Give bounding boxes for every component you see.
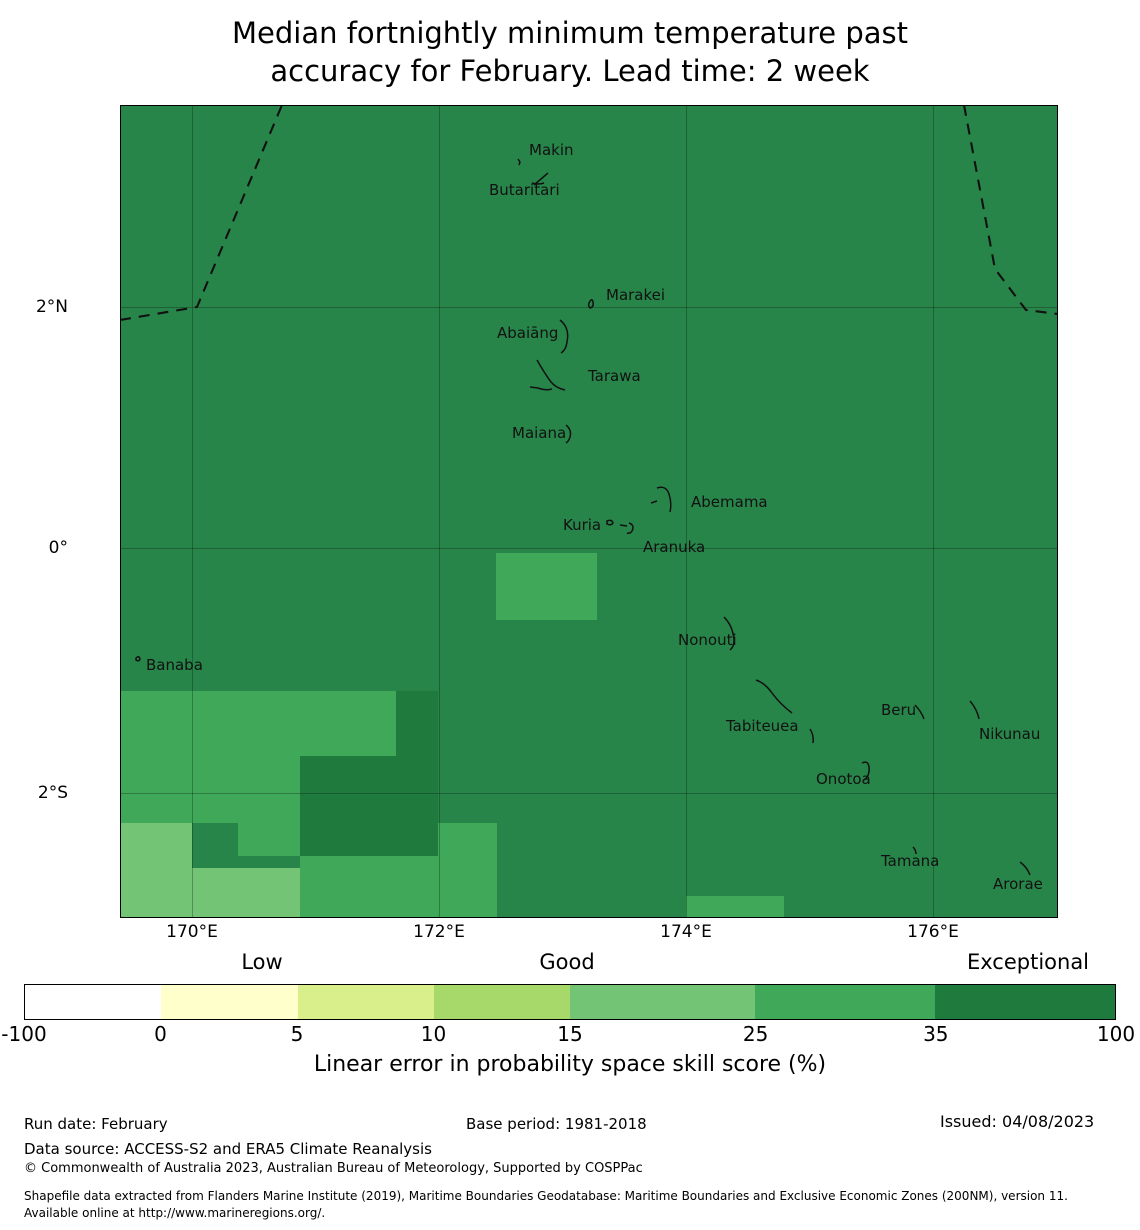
island-label-tabiteuea: Tabiteuea xyxy=(726,717,799,735)
map-plot-area[interactable]: MakinButaritariMarakeiAbaiāngTarawaMaia… xyxy=(120,105,1058,918)
colorbar-segment[interactable] xyxy=(570,985,755,1019)
map-vector-layer xyxy=(120,105,1058,918)
eez-boundary-group xyxy=(120,105,1058,320)
colorbar-tick: 5 xyxy=(291,1022,304,1046)
x-axis-tick: 170°E xyxy=(166,922,218,942)
island-label-tarawa: Tarawa xyxy=(588,367,641,385)
colorbar[interactable] xyxy=(24,984,1116,1020)
colorbar-tick: 35 xyxy=(923,1022,948,1046)
island-label-aranuka: Aranuka xyxy=(643,538,705,556)
island-label-banaba: Banaba xyxy=(146,656,203,674)
island-label-nikunau: Nikunau xyxy=(979,725,1040,743)
y-axis-tick: 2°N xyxy=(36,297,68,317)
footer-run-date: Run date: February xyxy=(24,1115,168,1133)
colorbar-caption: Good xyxy=(539,950,594,974)
colorbar-segment[interactable] xyxy=(298,985,434,1019)
island-outline-beru xyxy=(915,705,924,719)
colorbar-axis-label: Linear error in probability space skill … xyxy=(0,1052,1140,1077)
colorbar-caption: Exceptional xyxy=(967,950,1089,974)
colorbar-caption: Low xyxy=(241,950,282,974)
island-label-marakei: Marakei xyxy=(606,286,665,304)
island-outline-marakei xyxy=(589,300,594,308)
colorbar-tick: 0 xyxy=(154,1022,167,1046)
eastern-eez xyxy=(964,105,1058,314)
island-label-maiana: Maiana xyxy=(512,424,566,442)
title-line-2: accuracy for February. Lead time: 2 week xyxy=(0,52,1140,90)
island-label-kuria: Kuria xyxy=(563,516,601,534)
colorbar-tick: 10 xyxy=(421,1022,446,1046)
colorbar-tick: 25 xyxy=(743,1022,768,1046)
title-line-1: Median fortnightly minimum temperature p… xyxy=(0,14,1140,52)
island-outline-banaba xyxy=(136,657,140,661)
footer-base-period: Base period: 1981-2018 xyxy=(466,1115,647,1133)
island-label-nonouti: Nonouti xyxy=(678,631,737,649)
island-outline-arorae xyxy=(1020,862,1030,875)
island-label-butaritari: Butaritari xyxy=(489,181,560,199)
island-outline-abemama xyxy=(651,487,671,512)
island-label-arorae: Arorae xyxy=(993,875,1043,893)
colorbar-tick-labels: -1000510152535100 xyxy=(0,1022,1140,1048)
island-label-beru: Beru xyxy=(881,701,916,719)
island-outline-tarawa xyxy=(530,360,565,390)
island-label-tamana: Tamana xyxy=(881,852,939,870)
island-outline-kuria xyxy=(607,520,613,524)
colorbar-segment[interactable] xyxy=(161,985,297,1019)
island-outline-makin xyxy=(518,159,520,165)
colorbar-tick: 15 xyxy=(557,1022,582,1046)
colorbar-qualitative-captions: LowGoodExceptional xyxy=(0,950,1140,978)
island-label-abaiang: Abaiāng xyxy=(497,324,558,342)
colorbar-segment[interactable] xyxy=(434,985,570,1019)
colorbar-tick: 100 xyxy=(1097,1022,1135,1046)
footer-shapefile-attribution: Shapefile data extracted from Flanders M… xyxy=(24,1188,1124,1222)
western-eez xyxy=(120,105,282,320)
footer-data-source: Data source: ACCESS-S2 and ERA5 Climate … xyxy=(24,1140,432,1158)
page-title: Median fortnightly minimum temperature p… xyxy=(0,14,1140,90)
y-axis-tick: 0° xyxy=(49,538,68,558)
island-outline-maiana xyxy=(566,425,571,443)
colorbar-segment[interactable] xyxy=(935,985,1115,1019)
island-label-onotoa: Onotoa xyxy=(816,770,871,788)
colorbar-segment[interactable] xyxy=(25,985,161,1019)
island-label-makin: Makin xyxy=(529,141,574,159)
footer-copyright: © Commonwealth of Australia 2023, Austra… xyxy=(24,1161,643,1176)
footer-issued-date: Issued: 04/08/2023 xyxy=(940,1112,1094,1131)
island-outline-aranuka xyxy=(620,523,633,533)
colorbar-segment[interactable] xyxy=(755,985,935,1019)
x-axis-tick: 176°E xyxy=(907,922,959,942)
y-axis-tick: 2°S xyxy=(38,783,68,803)
map-canvas[interactable]: MakinButaritariMarakeiAbaiāngTarawaMaia… xyxy=(120,105,1058,918)
island-outline-nikunau xyxy=(970,701,979,719)
x-axis-tick: 174°E xyxy=(660,922,712,942)
colorbar-tick: -100 xyxy=(1,1022,46,1046)
x-axis-tick: 172°E xyxy=(413,922,465,942)
island-outline-abaiang xyxy=(560,320,568,353)
island-label-abemama: Abemama xyxy=(691,493,768,511)
